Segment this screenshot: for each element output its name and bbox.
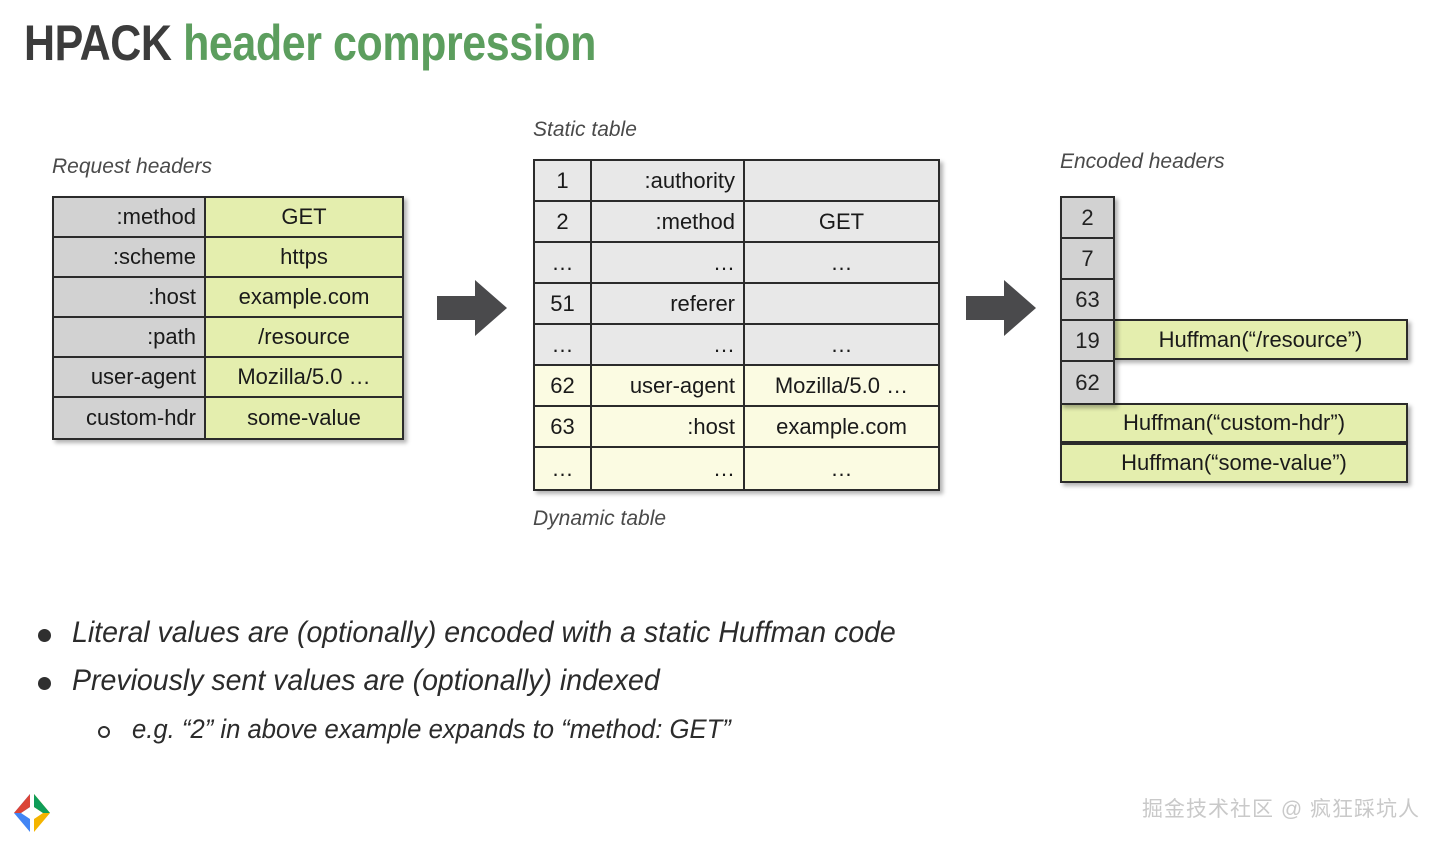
encoded-index-cell: 62 [1062, 362, 1113, 403]
dynamic-table-row: 63:hostexample.com [535, 407, 938, 448]
page-title: HPACK header compression [24, 12, 596, 74]
index-table-index: … [535, 325, 592, 364]
request-header-name: :method [54, 198, 206, 236]
static-table-row: ……… [535, 325, 938, 366]
index-table-name: … [592, 325, 745, 364]
request-header-row: custom-hdrsome-value [54, 398, 402, 438]
encoded-index-cell: 2 [1062, 198, 1113, 239]
index-table-name: user-agent [592, 366, 745, 405]
request-header-row: user-agentMozilla/5.0 … [54, 358, 402, 398]
index-table-name: :host [592, 407, 745, 446]
index-table-index: 51 [535, 284, 592, 323]
arrow-right-icon-2 [966, 278, 1038, 338]
encoded-index-cell: 7 [1062, 239, 1113, 280]
request-header-name: :host [54, 278, 206, 316]
index-table-index: 1 [535, 161, 592, 200]
encoded-index-column: 27631962 [1060, 196, 1115, 405]
bullet-item: Literal values are (optionally) encoded … [38, 612, 1238, 654]
index-table-index: 63 [535, 407, 592, 446]
dynamic-table-row: 62user-agentMozilla/5.0 … [535, 366, 938, 407]
static-table-row: 51referer [535, 284, 938, 325]
request-header-value: /resource [206, 318, 402, 356]
encoded-huffman-inline: Huffman(“/resource”) [1113, 319, 1408, 360]
index-table-value: … [745, 243, 938, 282]
request-header-row: :schemehttps [54, 238, 402, 278]
request-header-value: GET [206, 198, 402, 236]
page-title-accent: header compression [183, 15, 596, 71]
encoded-huffman-wide-1: Huffman(“some-value”) [1060, 443, 1408, 483]
bullet-ring-icon [98, 719, 132, 743]
encoded-headers-caption: Encoded headers [1060, 150, 1225, 174]
index-table-value [745, 161, 938, 200]
bullet-dot-icon [38, 623, 72, 647]
index-table-value: GET [745, 202, 938, 241]
bullet-text: Literal values are (optionally) encoded … [72, 612, 896, 654]
static-table-row: 2:methodGET [535, 202, 938, 243]
index-table-value: example.com [745, 407, 938, 446]
page-title-primary: HPACK [24, 15, 172, 71]
request-headers-table: :methodGET:schemehttps:hostexample.com:p… [52, 196, 404, 440]
google-developers-logo-icon [12, 791, 62, 835]
index-table-name: :authority [592, 161, 745, 200]
index-table-index: 2 [535, 202, 592, 241]
encoded-index-cell: 63 [1062, 280, 1113, 321]
index-table-name: referer [592, 284, 745, 323]
index-table-value: Mozilla/5.0 … [745, 366, 938, 405]
static-dynamic-table: 1:authority2:methodGET………51referer………62u… [533, 159, 940, 491]
bullet-dot-icon [38, 671, 72, 695]
static-table-row: 1:authority [535, 161, 938, 202]
index-table-index: … [535, 448, 592, 489]
encoded-index-cell: 19 [1062, 321, 1113, 362]
request-header-value: some-value [206, 398, 402, 438]
index-table-name: :method [592, 202, 745, 241]
request-headers-caption: Request headers [52, 155, 212, 179]
watermark-text: 掘金技术社区 @ 疯狂踩坑人 [1142, 793, 1420, 823]
request-header-row: :hostexample.com [54, 278, 402, 318]
request-header-row: :path/resource [54, 318, 402, 358]
dynamic-table-caption: Dynamic table [533, 507, 666, 531]
index-table-value: … [745, 325, 938, 364]
bullet-item: Previously sent values are (optionally) … [38, 660, 1238, 702]
index-table-name: … [592, 448, 745, 489]
bullet-text: Previously sent values are (optionally) … [72, 660, 660, 702]
index-table-value [745, 284, 938, 323]
request-header-value: example.com [206, 278, 402, 316]
arrow-right-icon-1 [437, 278, 509, 338]
bullet-text: e.g. “2” in above example expands to “me… [132, 708, 731, 750]
sub-bullet-item: e.g. “2” in above example expands to “me… [98, 708, 1238, 750]
static-table-caption: Static table [533, 118, 637, 142]
request-header-row: :methodGET [54, 198, 402, 238]
index-table-index: … [535, 243, 592, 282]
request-header-name: user-agent [54, 358, 206, 396]
encoded-huffman-wide-0: Huffman(“custom-hdr”) [1060, 403, 1408, 443]
bullet-list: Literal values are (optionally) encoded … [38, 612, 1238, 756]
request-header-value: https [206, 238, 402, 276]
index-table-name: … [592, 243, 745, 282]
request-header-value: Mozilla/5.0 … [206, 358, 402, 396]
index-table-value: … [745, 448, 938, 489]
request-header-name: custom-hdr [54, 398, 206, 438]
dynamic-table-row: ……… [535, 448, 938, 489]
static-table-row: ……… [535, 243, 938, 284]
request-header-name: :path [54, 318, 206, 356]
request-header-name: :scheme [54, 238, 206, 276]
index-table-index: 62 [535, 366, 592, 405]
